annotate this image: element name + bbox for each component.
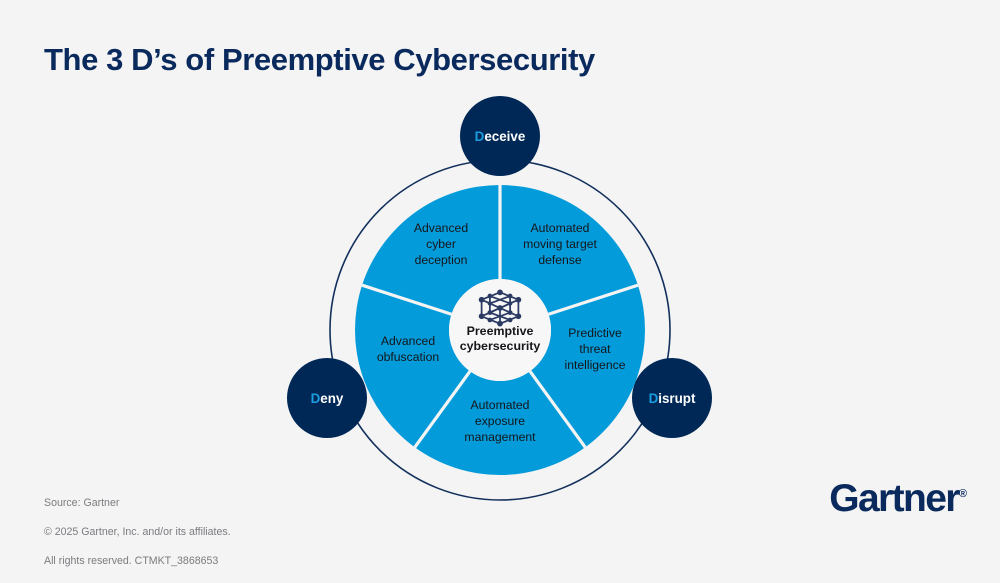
registered-trademark-icon: ® — [959, 488, 967, 500]
hub-label-line1: Preemptive — [467, 324, 534, 338]
label-advanced-obfuscation-line2: obfuscation — [377, 350, 439, 364]
svg-text:Disrupt: Disrupt — [649, 391, 696, 406]
badge-deceive-label: eceive — [484, 129, 525, 144]
diagram-container: Preemptive cybersecurity Automated movin… — [300, 80, 720, 510]
label-automated-exposure-management-line1: Automated — [471, 398, 530, 412]
label-predictive-threat-intelligence-line2: threat — [579, 342, 611, 356]
badge-disrupt[interactable]: Disrupt — [632, 358, 712, 438]
source-line-1: Source: Gartner — [44, 496, 231, 511]
svg-text:Deceive: Deceive — [475, 129, 526, 144]
label-advanced-obfuscation-line1: Advanced — [381, 334, 435, 348]
label-automated-exposure-management-line3: management — [464, 430, 536, 444]
label-automated-moving-target-defense-line1: Automated — [531, 221, 590, 235]
gartner-logo-wordmark: Gartner — [829, 477, 959, 520]
badge-deny[interactable]: Deny — [287, 358, 367, 438]
source-line-3: All rights reserved. CTMKT_3868653 — [44, 554, 231, 569]
label-predictive-threat-intelligence-line1: Predictive — [568, 326, 622, 340]
svg-text:Deny: Deny — [311, 391, 344, 406]
badge-disrupt-label: isrupt — [658, 391, 696, 406]
hub-label-line2: cybersecurity — [460, 339, 541, 353]
label-automated-exposure-management-line2: exposure — [475, 414, 525, 428]
gartner-logo: Gartner® — [829, 479, 967, 518]
label-advanced-cyber-deception-line3: deception — [415, 253, 468, 267]
label-advanced-cyber-deception-line1: Advanced — [414, 221, 468, 235]
badge-deceive-initial: D — [475, 129, 485, 144]
source-note: Source: Gartner © 2025 Gartner, Inc. and… — [44, 481, 231, 583]
badge-disrupt-initial: D — [649, 391, 659, 406]
label-predictive-threat-intelligence-line3: intelligence — [565, 358, 626, 372]
badge-deny-label: eny — [320, 391, 344, 406]
label-advanced-cyber-deception-line2: cyber — [426, 237, 456, 251]
badge-deny-initial: D — [311, 391, 321, 406]
source-line-2: © 2025 Gartner, Inc. and/or its affiliat… — [44, 525, 231, 540]
slide-canvas: The 3 D’s of Preemptive Cybersecurity — [0, 0, 1000, 563]
badge-deceive[interactable]: Deceive — [460, 96, 540, 176]
page-title: The 3 D’s of Preemptive Cybersecurity — [44, 42, 595, 78]
label-automated-moving-target-defense-line3: defense — [538, 253, 582, 267]
label-automated-moving-target-defense-line2: moving target — [523, 237, 597, 251]
